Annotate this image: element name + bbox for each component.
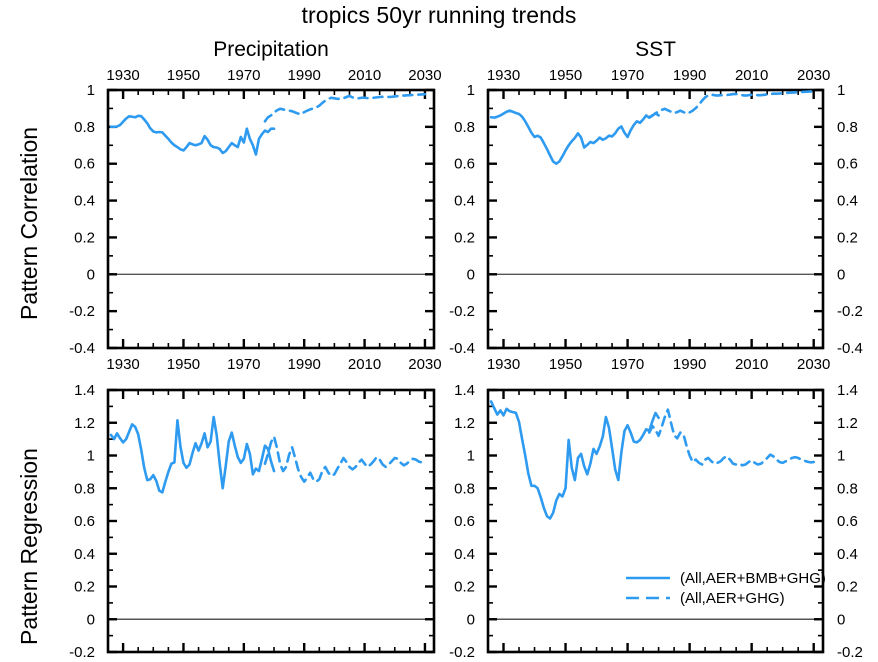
x-tick-label: 1930	[106, 67, 139, 84]
series-line-all-aer-ghg	[265, 437, 425, 482]
x-tick-label: 2010	[348, 356, 381, 373]
y-tick-label: -0.2	[69, 303, 95, 320]
plot-canvas: -0.4-0.200.20.40.60.81193019301950195019…	[0, 0, 878, 662]
x-tick-label: 1930	[487, 356, 520, 373]
panel-title-precipitation: Precipitation	[108, 38, 434, 62]
series-line-all-aer-bmb-ghg	[111, 417, 274, 492]
y-tick-label: 1	[467, 82, 475, 99]
y-tick-label: -0.4	[69, 340, 95, 357]
y-tick-label: 1.2	[454, 415, 475, 432]
figure-title: tropics 50yr running trends	[0, 2, 878, 29]
x-tick-label: 1950	[549, 356, 582, 373]
x-tick-label: 1970	[611, 67, 644, 84]
y-tick-label: 0.4	[74, 193, 95, 210]
y-tick-label: 0.4	[454, 546, 475, 563]
panel-sst-correlation: -0.4-0.4-0.2-0.2000.20.20.40.40.60.60.80…	[449, 67, 863, 373]
y-tick-label: 0.8	[454, 119, 475, 136]
y-tick-label: 1.4	[74, 382, 95, 399]
series-line-all-aer-ghg	[649, 410, 813, 466]
legend: (All,AER+BMB+GHG)(All,AER+GHG)	[626, 570, 826, 607]
y-tick-label: 1.4	[837, 382, 858, 399]
x-tick-label: 1950	[167, 356, 200, 373]
y-tick-label: 0.4	[837, 193, 858, 210]
legend-label: (All,AER+BMB+GHG)	[680, 570, 826, 587]
y-tick-label: -0.4	[449, 340, 475, 357]
figure-root: tropics 50yr running trends Precipitatio…	[0, 0, 878, 662]
y-tick-label: 0.4	[837, 546, 858, 563]
y-tick-label: 1	[467, 448, 475, 465]
panel-frame	[108, 390, 434, 652]
series-line-all-aer-ghg	[649, 91, 813, 117]
x-tick-label: 1970	[611, 356, 644, 373]
y-tick-label: 0.6	[74, 156, 95, 173]
legend-label: (All,AER+GHG)	[680, 590, 785, 607]
y-tick-label: -0.2	[837, 644, 863, 661]
y-tick-label: 0.4	[454, 193, 475, 210]
y-tick-label: -0.2	[449, 303, 475, 320]
y-tick-label: 0.6	[454, 513, 475, 530]
y-tick-label: 1	[837, 82, 845, 99]
y-tick-label: 1	[837, 448, 845, 465]
y-axis-label-pattern-correlation: Pattern Correlation	[16, 127, 43, 320]
x-tick-label: 2030	[797, 67, 830, 84]
y-tick-label: -0.4	[837, 340, 863, 357]
y-tick-label: 1.2	[74, 415, 95, 432]
y-tick-label: 0.8	[74, 480, 95, 497]
y-tick-label: 0	[837, 611, 845, 628]
y-tick-label: 0.8	[454, 480, 475, 497]
x-tick-label: 2030	[408, 356, 441, 373]
panel-precip-regression: -0.200.20.40.60.811.21.4	[69, 382, 434, 661]
y-tick-label: -0.2	[69, 644, 95, 661]
y-tick-label: 0.2	[837, 229, 858, 246]
y-tick-label: 0	[87, 266, 95, 283]
y-tick-label: 0.6	[74, 513, 95, 530]
series-line-all-aer-bmb-ghg	[491, 401, 658, 518]
panel-frame	[488, 90, 823, 348]
y-tick-label: 0.2	[454, 229, 475, 246]
y-tick-label: 0.6	[837, 156, 858, 173]
y-tick-label: 0.2	[74, 229, 95, 246]
y-tick-label: 0	[837, 266, 845, 283]
y-tick-label: 0.6	[454, 156, 475, 173]
y-tick-label: 1	[87, 448, 95, 465]
panel-sst-regression: -0.2-0.2000.20.20.40.40.60.60.80.8111.21…	[449, 382, 863, 661]
y-tick-label: -0.2	[837, 303, 863, 320]
y-tick-label: 0.4	[74, 546, 95, 563]
x-tick-label: 1970	[227, 356, 260, 373]
x-tick-label: 1970	[227, 67, 260, 84]
y-tick-label: 0.8	[74, 119, 95, 136]
x-tick-label: 1930	[487, 67, 520, 84]
x-tick-label: 1990	[673, 356, 706, 373]
y-tick-label: 1	[87, 82, 95, 99]
x-tick-label: 1990	[288, 356, 321, 373]
y-tick-label: 0.8	[837, 480, 858, 497]
panel-precip-correlation: -0.4-0.200.20.40.60.81193019301950195019…	[69, 67, 441, 373]
y-tick-label: 0.2	[837, 579, 858, 596]
y-tick-label: 1.4	[454, 382, 475, 399]
x-tick-label: 1990	[673, 67, 706, 84]
x-tick-label: 2010	[348, 67, 381, 84]
x-tick-label: 2030	[797, 356, 830, 373]
series-line-all-aer-bmb-ghg	[111, 116, 274, 155]
y-axis-label-pattern-regression: Pattern Regression	[16, 448, 43, 645]
x-tick-label: 1930	[106, 356, 139, 373]
x-tick-label: 2010	[735, 67, 768, 84]
y-tick-label: -0.2	[449, 644, 475, 661]
y-tick-label: 0.2	[74, 579, 95, 596]
x-tick-label: 1950	[549, 67, 582, 84]
y-tick-label: 0	[87, 611, 95, 628]
y-tick-label: 0.8	[837, 119, 858, 136]
y-tick-label: 0	[467, 611, 475, 628]
panel-title-sst: SST	[488, 38, 823, 62]
series-line-all-aer-ghg	[265, 94, 425, 121]
y-tick-label: 0.6	[837, 513, 858, 530]
x-tick-label: 1950	[167, 67, 200, 84]
x-tick-label: 2030	[408, 67, 441, 84]
y-tick-label: 1.2	[837, 415, 858, 432]
x-tick-label: 1990	[288, 67, 321, 84]
series-line-all-aer-bmb-ghg	[491, 111, 658, 164]
panel-frame	[488, 390, 823, 652]
y-tick-label: 0	[467, 266, 475, 283]
x-tick-label: 2010	[735, 356, 768, 373]
y-tick-label: 0.2	[454, 579, 475, 596]
